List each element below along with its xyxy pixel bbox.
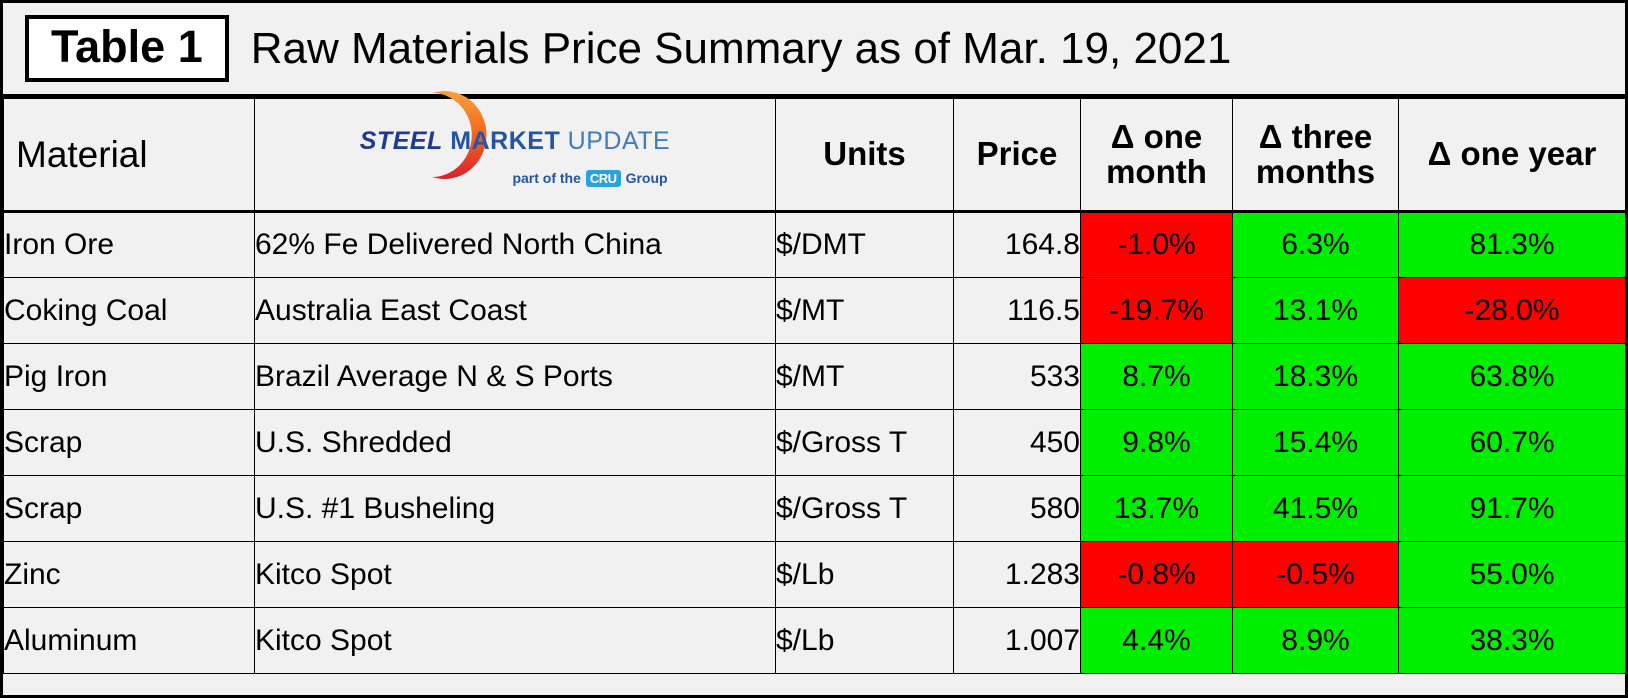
table-row: ScrapU.S. Shredded$/Gross T4509.8%15.4%6… (4, 410, 1626, 476)
cell-price: 533 (954, 344, 1081, 410)
cell-units: $/MT (776, 278, 954, 344)
cell-delta-three-months: -0.5% (1233, 542, 1399, 608)
cell-delta-three-months: 8.9% (1233, 608, 1399, 674)
cell-units: $/DMT (776, 212, 954, 278)
cell-material: Coking Coal (4, 278, 255, 344)
cell-delta-one-month: -19.7% (1081, 278, 1233, 344)
cell-units: $/Lb (776, 608, 954, 674)
column-header-delta-one-year: Δ one year (1399, 99, 1626, 212)
cell-delta-one-month: 9.8% (1081, 410, 1233, 476)
title-bar: Table 1 Raw Materials Price Summary as o… (3, 3, 1625, 98)
logo-word-update: UPDATE (568, 127, 671, 155)
cell-description: Kitco Spot (255, 542, 776, 608)
steel-market-update-logo: STEEL MARKET UPDATE part of the CRU Grou… (255, 105, 775, 205)
logo-word-steel: STEEL (360, 127, 443, 155)
table-row: Coking CoalAustralia East Coast$/MT116.5… (4, 278, 1626, 344)
cell-material: Scrap (4, 476, 255, 542)
column-header-delta-one-month: Δ one month (1081, 99, 1233, 212)
logo-sub-suffix: Group (626, 171, 668, 186)
cell-units: $/MT (776, 344, 954, 410)
cell-description: U.S. #1 Busheling (255, 476, 776, 542)
cell-material: Scrap (4, 410, 255, 476)
logo-word-market: MARKET (450, 127, 560, 155)
cell-delta-one-year: 38.3% (1399, 608, 1626, 674)
cell-delta-one-month: -0.8% (1081, 542, 1233, 608)
cell-delta-one-year: 81.3% (1399, 212, 1626, 278)
cell-price: 1.007 (954, 608, 1081, 674)
cell-delta-one-year: 91.7% (1399, 476, 1626, 542)
price-summary-table-page: Table 1 Raw Materials Price Summary as o… (0, 0, 1628, 698)
column-header-price: Price (954, 99, 1081, 212)
table-header-row: Material (4, 99, 1626, 212)
cell-delta-one-year: 63.8% (1399, 344, 1626, 410)
cell-description: Australia East Coast (255, 278, 776, 344)
logo-subtitle: part of the CRU Group (512, 170, 667, 188)
table-row: Pig IronBrazil Average N & S Ports$/MT53… (4, 344, 1626, 410)
column-header-units: Units (776, 99, 954, 212)
cell-description: U.S. Shredded (255, 410, 776, 476)
cell-delta-three-months: 6.3% (1233, 212, 1399, 278)
cell-delta-one-month: 13.7% (1081, 476, 1233, 542)
cell-units: $/Gross T (776, 476, 954, 542)
cell-price: 164.8 (954, 212, 1081, 278)
logo-main-row: STEEL MARKET UPDATE (255, 122, 775, 162)
table-row: ZincKitco Spot$/Lb1.283-0.8%-0.5%55.0% (4, 542, 1626, 608)
cell-material: Iron Ore (4, 212, 255, 278)
cru-badge-icon: CRU (586, 170, 621, 188)
table-row: Iron Ore62% Fe Delivered North China$/DM… (4, 212, 1626, 278)
logo-sub-prefix: part of the (512, 171, 580, 186)
cell-price: 580 (954, 476, 1081, 542)
cell-delta-three-months: 18.3% (1233, 344, 1399, 410)
column-header-material: Material (4, 99, 255, 212)
cell-price: 1.283 (954, 542, 1081, 608)
cell-units: $/Gross T (776, 410, 954, 476)
cell-delta-one-year: 60.7% (1399, 410, 1626, 476)
table-body: Iron Ore62% Fe Delivered North China$/DM… (4, 212, 1626, 674)
cell-delta-three-months: 13.1% (1233, 278, 1399, 344)
cell-delta-one-year: 55.0% (1399, 542, 1626, 608)
raw-materials-table: Material (3, 98, 1626, 674)
logo-wordmark: STEEL MARKET UPDATE (360, 129, 670, 154)
cell-price: 450 (954, 410, 1081, 476)
table-row: AluminumKitco Spot$/Lb1.0074.4%8.9%38.3% (4, 608, 1626, 674)
cell-delta-three-months: 41.5% (1233, 476, 1399, 542)
column-header-delta-three-months: Δ three months (1233, 99, 1399, 212)
cell-material: Pig Iron (4, 344, 255, 410)
cell-delta-one-month: 8.7% (1081, 344, 1233, 410)
cell-description: 62% Fe Delivered North China (255, 212, 776, 278)
cell-delta-three-months: 15.4% (1233, 410, 1399, 476)
cell-material: Zinc (4, 542, 255, 608)
cell-delta-one-year: -28.0% (1399, 278, 1626, 344)
cell-material: Aluminum (4, 608, 255, 674)
cell-units: $/Lb (776, 542, 954, 608)
cell-price: 116.5 (954, 278, 1081, 344)
brand-logo-cell: STEEL MARKET UPDATE part of the CRU Grou… (255, 99, 776, 212)
cell-description: Brazil Average N & S Ports (255, 344, 776, 410)
table-row: ScrapU.S. #1 Busheling$/Gross T58013.7%4… (4, 476, 1626, 542)
cell-delta-one-month: 4.4% (1081, 608, 1233, 674)
page-title: Raw Materials Price Summary as of Mar. 1… (251, 27, 1232, 71)
cell-delta-one-month: -1.0% (1081, 212, 1233, 278)
cell-description: Kitco Spot (255, 608, 776, 674)
table-number-badge: Table 1 (25, 15, 229, 82)
